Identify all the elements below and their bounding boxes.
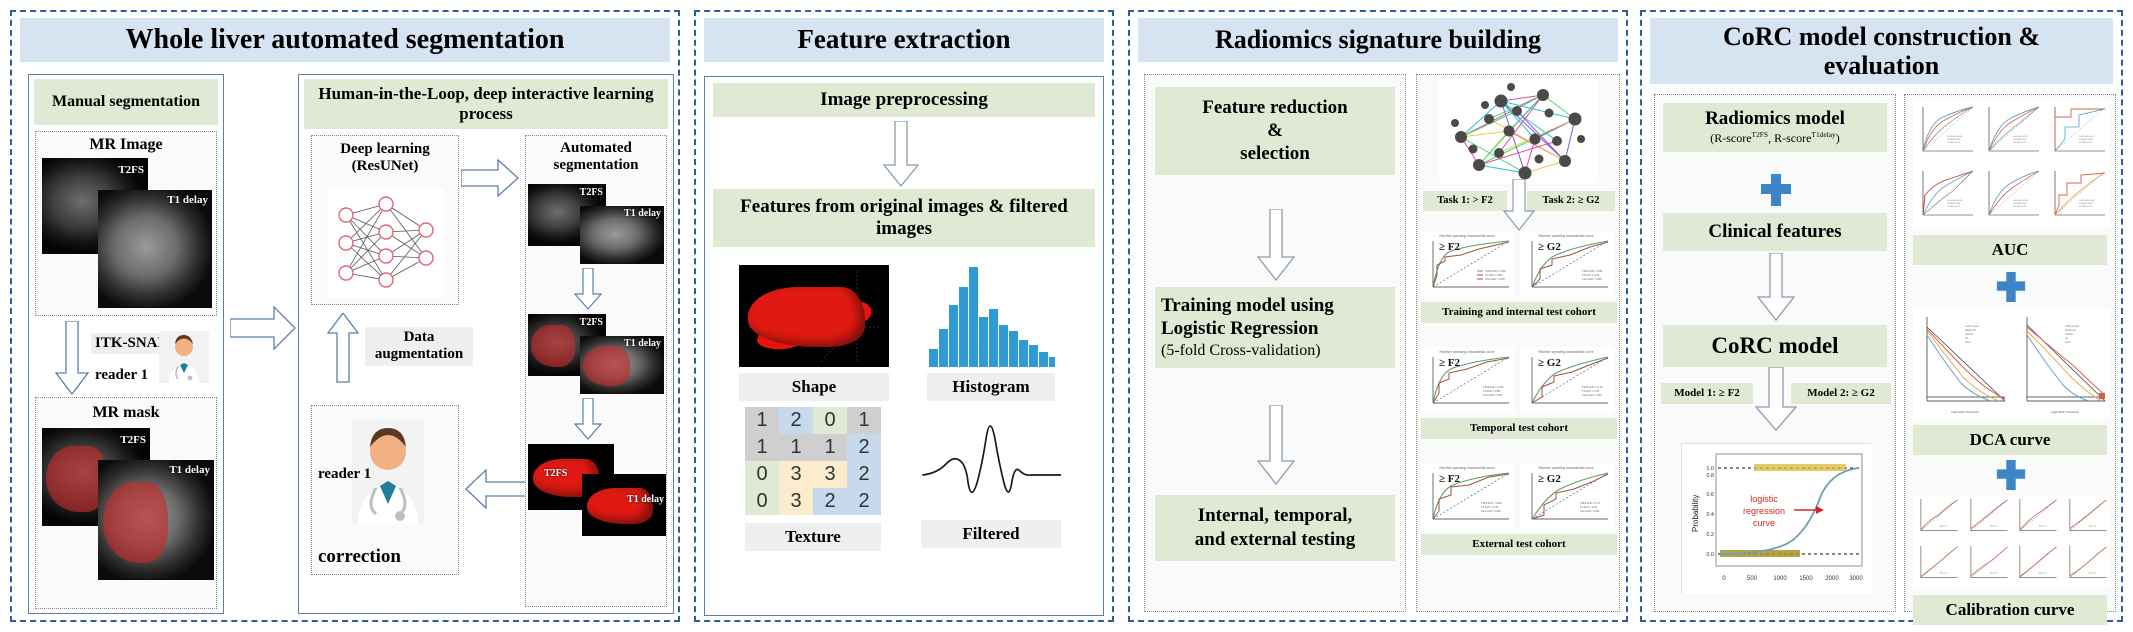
svg-text:Clin AUC=0.74: Clin AUC=0.74 (1947, 141, 1961, 144)
feature-tile-texture: 1 2 0 1 1 1 1 2 0 3 3 2 (745, 407, 881, 551)
mr-image-block: MR Image T2FS T1 delay (35, 131, 217, 316)
image-preprocessing-step: Image preprocessing (713, 83, 1095, 117)
image-preprocessing-text: Image preprocessing (820, 89, 988, 110)
manual-to-hitl-arrow (230, 306, 296, 350)
texture-tile-label: Texture (745, 523, 881, 551)
svg-text:T2FS AUC = 0.77: T2FS AUC = 0.77 (1580, 501, 1601, 505)
plus-icon-auc-dca (1995, 271, 2027, 303)
shape-3d-render-icon (739, 265, 889, 367)
texture-row: 0 3 2 2 (745, 488, 881, 515)
panel-feature-extraction: Feature extraction Image preprocessing F… (694, 10, 1114, 622)
roc-label-g2-external: ≥ G2 (1538, 473, 1561, 485)
texture-cell: 2 (847, 461, 881, 488)
feature-reduction-step: Feature reduction & selection (1155, 87, 1395, 175)
svg-text:Receiver operating characteris: Receiver operating characteristic curve (1538, 350, 1593, 354)
svg-text:Rad AUC=0.83: Rad AUC=0.83 (2013, 138, 2027, 141)
data-augmentation-label: Data augmentation (365, 327, 473, 366)
feature-tile-filtered: Filtered (921, 417, 1061, 548)
mr-mask-block: MR mask T2FS T1 delay (35, 397, 217, 609)
svg-text:T2FS AUC = 0.84: T2FS AUC = 0.84 (1483, 385, 1504, 389)
dca-plot: CoRC modelRadiomicsClinicalAllNoneHigh R… (2013, 309, 2109, 417)
svg-text:T1 AUC = 0.74: T1 AUC = 0.74 (1580, 505, 1598, 509)
testing-line1: Internal, temporal, (1159, 504, 1391, 528)
auto-t2fs-tag-3: T2FS (544, 468, 567, 479)
reduction-to-training-arrow (1257, 209, 1295, 281)
r-score-sup-t2fs: T2FS (1752, 130, 1769, 139)
calibration-plot: Apparent (1913, 542, 1960, 586)
calibration-plot: Apparent (2062, 495, 2109, 539)
svg-text:T1 AUC = 0.83: T1 AUC = 0.83 (1485, 273, 1503, 277)
cohort-label-temporal: Temporal test cohort (1421, 418, 1617, 439)
roc-label-g2-training: ≥ G2 (1538, 241, 1561, 253)
feature-tile-histogram: Histogram (927, 263, 1055, 401)
auto-step-arrow-1 (574, 268, 602, 310)
svg-text:500: 500 (1747, 576, 1758, 582)
cohort-block-temporal: Receiver operating characteristic curve … (1421, 347, 1617, 439)
r-score-sup-t1delay: T1delay (1811, 130, 1835, 139)
training-line1: Training model using (1161, 295, 1389, 318)
roc-plot-g2-temporal: Receiver operating characteristic curve … (1520, 347, 1613, 413)
panel-radiomics-signature: Radiomics signature building Feature red… (1128, 10, 1628, 622)
auc-roc-plot: CoRC AUC=0.90Rad AUC=0.86Clin AUC=0.73 (1913, 165, 1977, 225)
plus-icon-dca-calibration (1995, 459, 2027, 491)
dca-plot-grid: CoRC modelRadiomicsClinicalAllNoneHigh R… (1913, 309, 2109, 419)
svg-text:All: All (1965, 337, 1968, 340)
data-augmentation-arrow-up (327, 313, 359, 383)
auc-roc-plot: CoRC AUC=0.85Rad AUC=0.81Clin AUC=0.69 (1979, 165, 2043, 225)
calibration-plot: Apparent (2012, 495, 2059, 539)
svg-text:Clin AUC=0.72: Clin AUC=0.72 (2013, 141, 2027, 144)
calibration-plot: Apparent (1963, 542, 2010, 586)
texture-cell: 1 (779, 434, 813, 461)
calibration-plot: Apparent (1913, 495, 1960, 539)
svg-text:Com AUC = 0.85: Com AUC = 0.85 (1481, 509, 1501, 513)
svg-text:0.8: 0.8 (1706, 473, 1714, 479)
panel3-title: Radiomics signature building (1138, 18, 1618, 62)
texture-cell: 3 (779, 461, 813, 488)
svg-text:None: None (2065, 341, 2071, 344)
preprocessing-to-features-arrow (883, 121, 919, 187)
manual-segmentation-card: Manual segmentation MR Image T2FS T1 del… (28, 74, 224, 614)
texture-row: 1 2 0 1 (745, 407, 881, 434)
svg-text:1500: 1500 (1799, 576, 1813, 582)
wavelet-waveform-icon (921, 417, 1061, 513)
mr-mask-t2fs-tag: T2FS (120, 434, 146, 446)
svg-text:Receiver operating characteris: Receiver operating characteristic curve (1538, 234, 1593, 238)
texture-row: 1 1 1 2 (745, 434, 881, 461)
texture-matrix-icon: 1 2 0 1 1 1 1 2 0 3 3 2 (745, 407, 881, 515)
roc-label-f2-training: ≥ F2 (1439, 241, 1460, 253)
corc-evaluation-card: CoRC AUC=0.89Rad AUC=0.85Clin AUC=0.74 C… (1904, 94, 2116, 612)
svg-text:Receiver operating characteris: Receiver operating characteristic curve (1439, 466, 1494, 470)
correction-label: correction (318, 546, 401, 568)
logistic-regression-chart: Probability 0.00.20.4 0.60.81.0 05001000… (1681, 443, 1871, 593)
feature-correlation-network-icon (1439, 79, 1597, 183)
svg-text:CoRC AUC=0.92: CoRC AUC=0.92 (2079, 135, 2095, 138)
testing-step: Internal, temporal, and external testing (1155, 495, 1395, 561)
logistic-ylabel: Probability (1691, 495, 1700, 532)
r-score-mid: , R-score (1768, 131, 1811, 145)
svg-text:Receiver operating characteris: Receiver operating characteristic curve (1439, 234, 1494, 238)
auc-section-label: AUC (1913, 235, 2107, 265)
svg-text:High Risk Threshold: High Risk Threshold (1952, 410, 1979, 414)
svg-text:Com AUC = 0.83: Com AUC = 0.83 (1582, 393, 1602, 397)
panel2-title: Feature extraction (704, 18, 1104, 62)
texture-cell: 1 (745, 434, 779, 461)
roc-label-f2-external: ≥ F2 (1439, 473, 1460, 485)
svg-text:T2FS AUC = 0.86: T2FS AUC = 0.86 (1485, 269, 1506, 273)
mr-t1delay-tag: T1 delay (167, 194, 208, 206)
svg-text:T2FS AUC = 0.82: T2FS AUC = 0.82 (1481, 501, 1502, 505)
svg-text:Com AUC = 0.89: Com AUC = 0.89 (1485, 277, 1505, 281)
panel-whole-liver-segmentation: Whole liver automated segmentation Manua… (10, 10, 680, 622)
itk-snap-arrow-down (55, 321, 89, 395)
radiomics-model-sub: (R-scoreT2FS, R-scoreT1delay) (1663, 131, 1887, 146)
features-origin-text: Features from original images & filtered… (740, 196, 1068, 239)
task2-badge: Task 2: ≥ G2 (1527, 191, 1615, 211)
reader1-label-correction: reader 1 (318, 466, 371, 483)
roc-plot-f2-temporal: Receiver operating characteristic curve … (1421, 347, 1514, 413)
auc-roc-plot: CoRC AUC=0.88Rad AUC=0.84Clin AUC=0.71 (2045, 165, 2109, 225)
svg-text:Apparent: Apparent (1940, 525, 1948, 528)
svg-text:Rad AUC=0.88: Rad AUC=0.88 (2079, 138, 2093, 141)
auto-t1delay-tag-3: T1 delay (627, 494, 664, 505)
svg-text:Apparent: Apparent (2088, 572, 2096, 575)
svg-text:Rad AUC=0.84: Rad AUC=0.84 (2079, 202, 2093, 205)
auc-roc-plot: CoRC AUC=0.89Rad AUC=0.85Clin AUC=0.74 (1913, 101, 1977, 161)
svg-text:0.0: 0.0 (1706, 552, 1714, 558)
svg-text:Rad AUC=0.85: Rad AUC=0.85 (1947, 138, 1961, 141)
svg-text:Apparent: Apparent (1940, 572, 1948, 575)
hitl-header: Human-in-the-Loop, deep interactive lear… (304, 79, 668, 129)
corc-model-box: CoRC model (1663, 325, 1887, 367)
svg-text:Receiver operating characteris: Receiver operating characteristic curve (1439, 350, 1494, 354)
svg-text:1.0: 1.0 (1706, 466, 1714, 472)
shape-tile-label: Shape (739, 373, 889, 401)
texture-cell: 2 (847, 434, 881, 461)
svg-text:Clin AUC=0.69: Clin AUC=0.69 (2013, 205, 2027, 208)
svg-text:CoRC AUC=0.85: CoRC AUC=0.85 (2013, 199, 2029, 202)
training-sub: (5-fold Cross-validation) (1161, 341, 1389, 360)
svg-text:High Risk Threshold: High Risk Threshold (2052, 410, 2079, 414)
texture-cell: 1 (813, 434, 847, 461)
panel4-title: CoRC model construction & evaluation (1650, 18, 2113, 84)
figure-canvas: Whole liver automated segmentation Manua… (0, 0, 2133, 632)
neural-network-icon (328, 188, 444, 298)
svg-text:2000: 2000 (1825, 576, 1839, 582)
svg-text:CoRC model: CoRC model (2065, 325, 2079, 328)
svg-text:T1 AUC = 0.78: T1 AUC = 0.78 (1481, 505, 1499, 509)
texture-cell: 2 (813, 488, 847, 515)
calibration-plot: Apparent (1963, 495, 2010, 539)
histogram-tile-label: Histogram (927, 373, 1055, 401)
corc-construction-card: Radiomics model (R-scoreT2FS, R-scoreT1d… (1654, 94, 1896, 612)
svg-text:T2FS AUC = 0.81: T2FS AUC = 0.81 (1582, 269, 1603, 273)
reader-correction-box: reader 1 correction (311, 405, 459, 575)
svg-text:Clin AUC=0.73: Clin AUC=0.73 (1947, 205, 1961, 208)
clinical-features-label: Clinical features (1708, 221, 1841, 242)
dl-to-automated-arrow (461, 159, 519, 197)
manual-segmentation-header: Manual segmentation (34, 79, 218, 125)
svg-text:Rad AUC=0.81: Rad AUC=0.81 (2013, 202, 2027, 205)
cohort-label-training: Training and internal test cohort (1421, 302, 1617, 323)
filtered-tile-label: Filtered (921, 520, 1061, 548)
clinical-features-box: Clinical features (1663, 213, 1887, 251)
cohort-label-external: External test cohort (1421, 534, 1617, 555)
svg-text:All: All (2065, 337, 2068, 340)
svg-text:Clin AUC=0.70: Clin AUC=0.70 (2079, 141, 2093, 144)
svg-text:0.4: 0.4 (1706, 512, 1714, 518)
texture-cell: 0 (745, 461, 779, 488)
dca-section-label: DCA curve (1913, 425, 2107, 455)
data-augmentation-text: Data augmentation (375, 329, 463, 362)
panel-corc-model: CoRC model construction & evaluation Rad… (1640, 10, 2123, 622)
plus-icon-radiomics-clinical (1759, 173, 1793, 207)
svg-text:CoRC AUC=0.88: CoRC AUC=0.88 (2079, 199, 2095, 202)
auto-mr-t1delay-3d: T1 delay (582, 474, 666, 536)
mr-image-label: MR Image (36, 132, 216, 154)
texture-cell: 3 (779, 488, 813, 515)
calibration-section-label: Calibration curve (1913, 595, 2107, 625)
svg-text:Com AUC = 0.85: Com AUC = 0.85 (1582, 277, 1602, 281)
texture-row: 0 3 3 2 (745, 461, 881, 488)
automated-seg-header: Automated segmentation (526, 136, 666, 174)
feature-reduction-line1: Feature reduction (1155, 96, 1395, 119)
auto-t1delay-tag-2: T1 delay (624, 338, 661, 349)
svg-text:Apparent: Apparent (1989, 572, 1997, 575)
dca-plot: CoRC modelRadiomicsClinicalAllNoneHigh R… (1913, 309, 2009, 417)
calibration-plot: Apparent (2062, 542, 2109, 586)
feature-tile-shape: Shape (739, 265, 889, 401)
cohort-block-training: Receiver operating characteristic curve … (1421, 231, 1617, 323)
histogram-icon (927, 263, 1055, 367)
radiomics-model-box: Radiomics model (R-scoreT2FS, R-scoreT1d… (1663, 103, 1887, 152)
auc-plot-grid: CoRC AUC=0.89Rad AUC=0.85Clin AUC=0.74 C… (1913, 101, 2109, 227)
svg-text:1000: 1000 (1773, 576, 1787, 582)
mr-mask-t1delay-thumbnail: T1 delay (98, 460, 214, 580)
radiomics-model-label: Radiomics model (1663, 108, 1887, 130)
feature-reduction-line3: selection (1155, 142, 1395, 165)
svg-text:Radiomics: Radiomics (2065, 329, 2077, 332)
svg-text:Clinical: Clinical (1965, 333, 1973, 336)
signature-steps-card: Feature reduction & selection Training m… (1144, 74, 1406, 612)
training-line2: Logistic Regression (1161, 318, 1389, 341)
svg-text:logistic: logistic (1750, 494, 1778, 504)
svg-text:3000: 3000 (1849, 576, 1863, 582)
svg-text:Clinical: Clinical (2065, 333, 2073, 336)
deep-learning-label: Deep learning (312, 136, 458, 158)
cohort-block-external: Receiver operating characteristic curve … (1421, 463, 1617, 555)
corc-model-label: CoRC model (1711, 333, 1838, 358)
roc-plot-g2-training: Receiver operating characteristic curve … (1520, 231, 1613, 297)
roc-label-g2-temporal: ≥ G2 (1538, 357, 1561, 369)
auc-roc-plot: CoRC AUC=0.87Rad AUC=0.83Clin AUC=0.72 (1979, 101, 2043, 161)
svg-text:CoRC model: CoRC model (1965, 325, 1979, 328)
model2-badge: Model 2: ≥ G2 (1791, 383, 1891, 404)
texture-cell: 3 (813, 461, 847, 488)
features-origin-step: Features from original images & filtered… (713, 189, 1095, 247)
texture-cell: 0 (813, 407, 847, 434)
svg-text:T1 AUC = 0.80: T1 AUC = 0.80 (1483, 389, 1501, 393)
svg-text:Apparent: Apparent (2039, 572, 2047, 575)
auc-roc-plot: CoRC AUC=0.92Rad AUC=0.88Clin AUC=0.70 (2045, 101, 2109, 161)
svg-text:CoRC AUC=0.90: CoRC AUC=0.90 (1947, 199, 1963, 202)
roc-plot-f2-training: Receiver operating characteristic curve … (1421, 231, 1514, 297)
panel1-title: Whole liver automated segmentation (20, 18, 670, 62)
svg-text:Apparent: Apparent (2088, 525, 2096, 528)
svg-text:regression: regression (1743, 506, 1785, 516)
svg-text:0.6: 0.6 (1706, 492, 1714, 498)
auto-t2fs-tag-2: T2FS (580, 317, 603, 328)
texture-cell: 2 (847, 488, 881, 515)
reader1-label-manual: reader 1 (95, 367, 148, 384)
task1-badge: Task 1: > F2 (1423, 191, 1507, 211)
auto-mr-t1delay-2: T1 delay (580, 336, 664, 394)
svg-text:None: None (1965, 341, 1971, 344)
texture-cell: 0 (745, 488, 779, 515)
automated-segmentation-column: Automated segmentation T2FS T1 delay T2F… (525, 135, 667, 607)
manual-seg-header-text: Manual segmentation (52, 93, 200, 111)
r-score-pre: (R-score (1710, 131, 1751, 145)
svg-text:Clin AUC=0.71: Clin AUC=0.71 (2079, 205, 2093, 208)
r-score-post: ) (1836, 131, 1840, 145)
tasks-split-arrow (1503, 179, 1535, 231)
signature-results-card: Task 1: > F2 Task 2: ≥ G2 Receiver opera… (1416, 74, 1620, 612)
svg-text:Com AUC = 0.81: Com AUC = 0.81 (1580, 509, 1600, 513)
mr-mask-label: MR mask (36, 398, 216, 422)
svg-text:CoRC AUC=0.89: CoRC AUC=0.89 (1947, 135, 1963, 138)
texture-cell: 2 (779, 407, 813, 434)
auto-step-arrow-2 (574, 398, 602, 440)
auto-t1delay-tag-1: T1 delay (624, 208, 661, 219)
svg-text:Apparent: Apparent (2039, 525, 2047, 528)
svg-text:Rad AUC=0.86: Rad AUC=0.86 (1947, 202, 1961, 205)
calibration-plot: Apparent (2012, 542, 2059, 586)
hitl-header-text: Human-in-the-Loop, deep interactive lear… (310, 84, 662, 123)
svg-text:Receiver operating characteris: Receiver operating characteristic curve (1538, 466, 1593, 470)
svg-text:T1 AUC = 0.79: T1 AUC = 0.79 (1582, 273, 1600, 277)
svg-text:T2FS AUC = 0.79: T2FS AUC = 0.79 (1582, 385, 1603, 389)
training-model-step: Training model using Logistic Regression… (1155, 287, 1395, 368)
svg-text:CoRC AUC=0.87: CoRC AUC=0.87 (2013, 135, 2029, 138)
roc-plot-f2-external: Receiver operating characteristic curve … (1421, 463, 1514, 529)
feature-reduction-line2: & (1155, 119, 1395, 142)
mr-t1delay-thumbnail: T1 delay (98, 190, 212, 308)
calibration-plot-grid: Apparent Apparent Apparent Apparent Appa… (1913, 495, 2109, 587)
hitl-process-card: Human-in-the-Loop, deep interactive lear… (298, 74, 674, 614)
auto-t2fs-tag-1: T2FS (580, 187, 603, 198)
deep-learning-box: Deep learning (ResUNet) (311, 135, 459, 305)
texture-cell: 1 (847, 407, 881, 434)
model1-badge: Model 1: ≥ F2 (1661, 383, 1753, 404)
svg-text:0.2: 0.2 (1706, 532, 1714, 538)
svg-text:Radiomics: Radiomics (1965, 329, 1977, 332)
svg-text:Apparent: Apparent (1989, 525, 1997, 528)
mr-mask-t1delay-tag: T1 delay (169, 464, 210, 476)
roc-plot-g2-external: Receiver operating characteristic curve … (1520, 463, 1613, 529)
texture-cell: 1 (745, 407, 779, 434)
clinical-to-corc-arrow (1757, 253, 1795, 321)
svg-text:T1 AUC = 0.76: T1 AUC = 0.76 (1582, 389, 1600, 393)
doctor-icon-reader1 (159, 331, 209, 383)
mr-t2fs-tag: T2FS (118, 164, 144, 176)
roc-label-f2-temporal: ≥ F2 (1439, 357, 1460, 369)
svg-text:curve: curve (1753, 518, 1775, 528)
auto-mr-t1delay-1: T1 delay (580, 206, 664, 264)
testing-line2: and external testing (1159, 528, 1391, 552)
svg-text:Com AUC = 0.87: Com AUC = 0.87 (1483, 393, 1503, 397)
deep-learning-model: (ResUNet) (312, 158, 458, 175)
training-to-testing-arrow (1257, 405, 1295, 485)
